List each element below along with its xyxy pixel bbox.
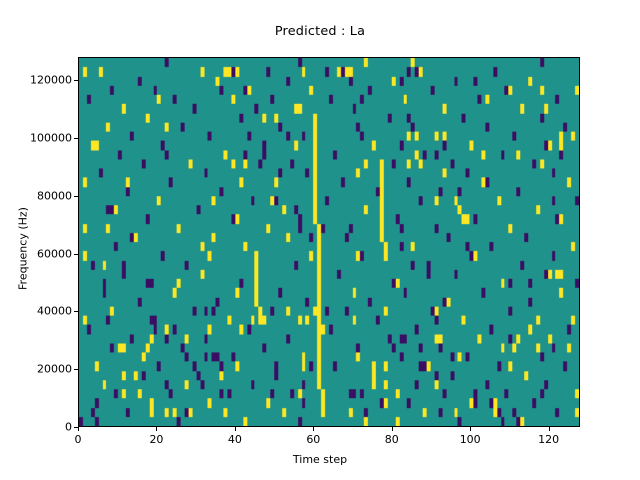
y-axis-label: Frequency (Hz) [17,149,30,349]
y-tick-mark [74,196,78,197]
x-tick-mark [78,427,79,431]
x-tick-mark [313,427,314,431]
x-axis-label: Time step [0,453,640,466]
x-tick-label: 60 [306,433,320,446]
x-tick-label: 0 [75,433,82,446]
y-tick-mark [74,311,78,312]
y-tick-mark [74,369,78,370]
y-tick-mark [74,138,78,139]
x-tick-mark [549,427,550,431]
x-tick-labels: 020406080100120 [0,0,640,480]
x-tick-mark [156,427,157,431]
x-tick-label: 40 [228,433,242,446]
x-tick-mark [470,427,471,431]
x-tick-label: 100 [460,433,481,446]
x-tick-label: 120 [538,433,559,446]
x-tick-mark [235,427,236,431]
x-tick-label: 80 [385,433,399,446]
y-tick-mark [74,80,78,81]
x-tick-label: 20 [149,433,163,446]
matplotlib-figure: Predicted : La 0200004000060000800001000… [0,0,640,480]
x-tick-mark [392,427,393,431]
y-tick-mark [74,254,78,255]
